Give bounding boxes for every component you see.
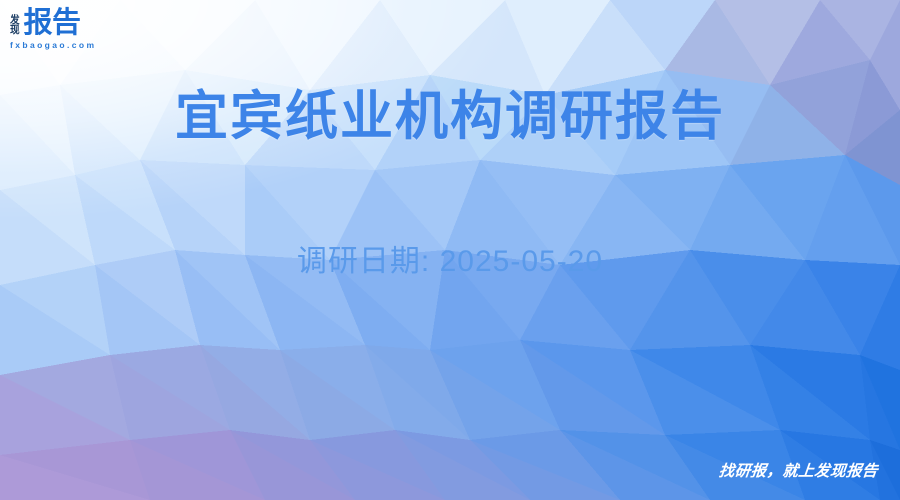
report-cover-slide: 发 现 报告 fxbaogao.com 宜宾纸业机构调研报告 调研日期: 202… <box>0 0 900 500</box>
brand-tagline: 找研报，就上发现报告 <box>718 459 879 481</box>
logo-domain: fxbaogao.com <box>10 40 96 50</box>
cover-headline-block: 宜宾纸业机构调研报告 调研日期: 2025-05-20 <box>0 86 900 149</box>
fxbaogao-logo[interactable]: 发 现 报告 fxbaogao.com <box>10 9 96 50</box>
logo-char-xian: 现 <box>10 25 20 36</box>
logo-wordmark-row: 发 现 报告 <box>10 9 81 38</box>
page-title: 宜宾纸业机构调研报告 <box>0 86 900 149</box>
survey-date-subtitle: 调研日期: 2025-05-20 <box>0 236 900 280</box>
logo-wordmark: 报告 <box>24 9 81 38</box>
logo-stacked-characters: 发 现 <box>10 15 21 38</box>
